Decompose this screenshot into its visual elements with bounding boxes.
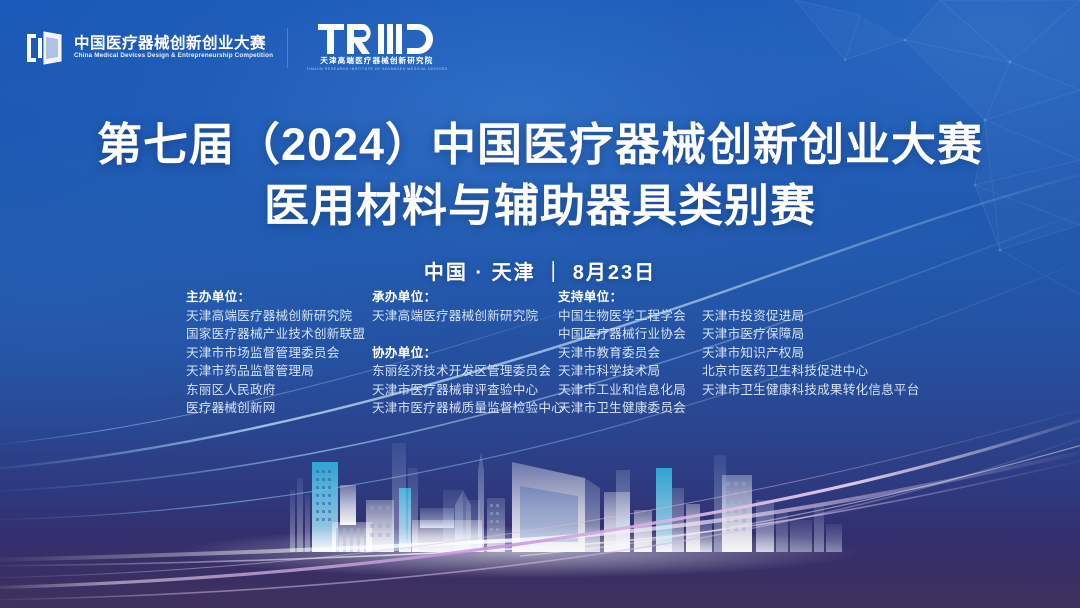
organizer-column-undertaker: 承办单位： 天津高端医疗器械创新研究院 协办单位： 东丽经济技术开发区管理委员会…: [372, 288, 558, 418]
title-line-1: 第七届（2024）中国医疗器械创新创业大赛: [0, 118, 1080, 173]
org-item: 天津市药品监督管理局: [186, 362, 372, 381]
org-item: 天津市医疗器械质量监督检验中心: [372, 399, 558, 418]
org-item: 天津市科学技术局: [558, 362, 690, 381]
org-item: 天津市医疗保障局: [702, 325, 912, 344]
institute-logo-name-en: TIANJIN RESEARCH INSTITUTE OF ADVANCED M…: [306, 68, 447, 72]
organizer-column-supporters: 支持单位： 中国生物医学工程学会 中国医疗器械行业协会 天津市教育委员会 天津市…: [558, 288, 912, 418]
section-spacer: [372, 325, 558, 344]
org-item: 天津市卫生健康委员会: [558, 399, 690, 418]
org-item: 医疗器械创新网: [186, 399, 372, 418]
competition-logo[interactable]: 中国医疗器械创新创业大赛 China Medical Devices Desig…: [24, 28, 269, 68]
organizations-block: 主办单位： 天津高端医疗器械创新研究院 国家医疗器械产业技术创新联盟 天津市市场…: [186, 288, 912, 418]
event-poster: 中国医疗器械创新创业大赛 China Medical Devices Desig…: [0, 0, 1080, 608]
org-item: 天津高端医疗器械创新研究院: [186, 307, 372, 326]
open-book-door-logo-icon: [24, 28, 64, 68]
org-item: 天津市市场监督管理委员会: [186, 344, 372, 363]
section-heading-co-organizer: 协办单位：: [372, 344, 558, 363]
competition-logo-name-en: China Medical Devices Design & Entrepren…: [74, 53, 273, 59]
section-heading-supporters: 支持单位：: [558, 288, 690, 307]
org-item: 天津市工业和信息化局: [558, 381, 690, 400]
org-item: 天津市医疗器械审评查验中心: [372, 381, 558, 400]
institute-logo[interactable]: 天津高端医疗器械创新研究院 TIANJIN RESEARCH INSTITUTE…: [306, 24, 447, 71]
org-item: 东丽区人民政府: [186, 381, 372, 400]
title-line-2: 医用材料与辅助器具类别赛: [0, 179, 1080, 234]
org-item: 中国医疗器械行业协会: [558, 325, 690, 344]
org-item: 东丽经济技术开发区管理委员会: [372, 362, 558, 381]
org-item: 国家医疗器械产业技术创新联盟: [186, 325, 372, 344]
header-logos: 中国医疗器械创新创业大赛 China Medical Devices Desig…: [24, 24, 447, 71]
org-item: 天津高端医疗器械创新研究院: [372, 307, 558, 326]
org-item: 天津市知识产权局: [702, 344, 912, 363]
org-item: 天津市卫生健康科技成果转化信息平台: [702, 381, 912, 400]
organizer-column-host: 主办单位： 天津高端医疗器械创新研究院 国家医疗器械产业技术创新联盟 天津市市场…: [186, 288, 372, 418]
trimd-wordmark-icon: [318, 24, 436, 54]
poster-title: 第七届（2024）中国医疗器械创新创业大赛 医用材料与辅助器具类别赛: [0, 118, 1080, 234]
org-item: 北京市医药卫生科技促进中心: [702, 362, 912, 381]
sub-column-top-pad: [702, 288, 912, 307]
org-item: 天津市投资促进局: [702, 307, 912, 326]
supporters-sub-column-right: 天津市投资促进局 天津市医疗保障局 天津市知识产权局 北京市医药卫生科技促进中心…: [702, 288, 912, 418]
supporters-sub-column-left: 支持单位： 中国生物医学工程学会 中国医疗器械行业协会 天津市教育委员会 天津市…: [558, 288, 690, 418]
competition-logo-name-cn: 中国医疗器械创新创业大赛: [74, 36, 269, 52]
logo-divider: [287, 28, 288, 68]
institute-logo-name-cn: 天津高端医疗器械创新研究院: [320, 57, 433, 65]
event-location-date: 中国 · 天津 ｜ 8月23日: [0, 256, 1080, 285]
org-item: 中国生物医学工程学会: [558, 307, 690, 326]
section-heading-undertaker: 承办单位：: [372, 288, 558, 307]
org-item: 天津市教育委员会: [558, 344, 690, 363]
section-heading-host: 主办单位：: [186, 288, 372, 307]
